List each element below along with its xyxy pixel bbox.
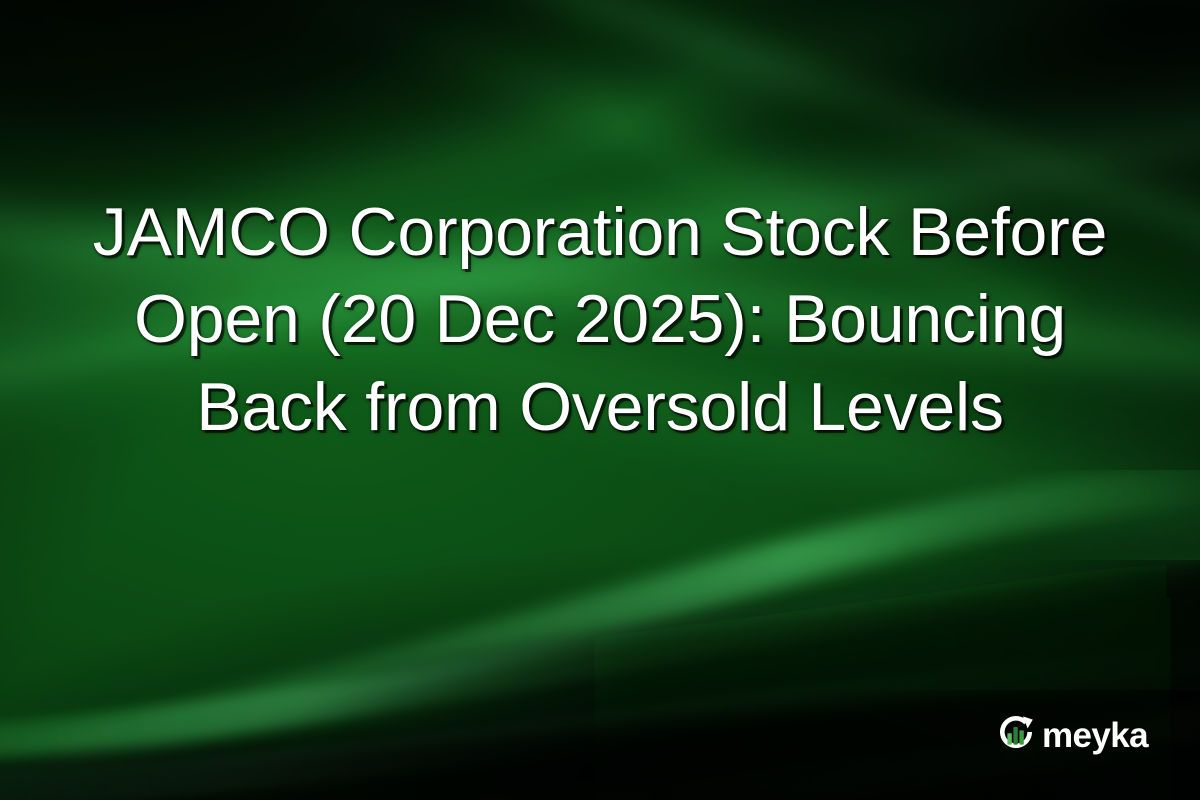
brand-logo[interactable]: meyka [994, 712, 1148, 756]
brand-wordmark: meyka [1042, 718, 1148, 753]
article-banner: JAMCO Corporation Stock Before Open (20 … [0, 0, 1200, 800]
bar-chart-ring-icon [994, 712, 1038, 756]
page-title: JAMCO Corporation Stock Before Open (20 … [70, 189, 1130, 450]
headline-container: JAMCO Corporation Stock Before Open (20 … [0, 0, 1200, 640]
